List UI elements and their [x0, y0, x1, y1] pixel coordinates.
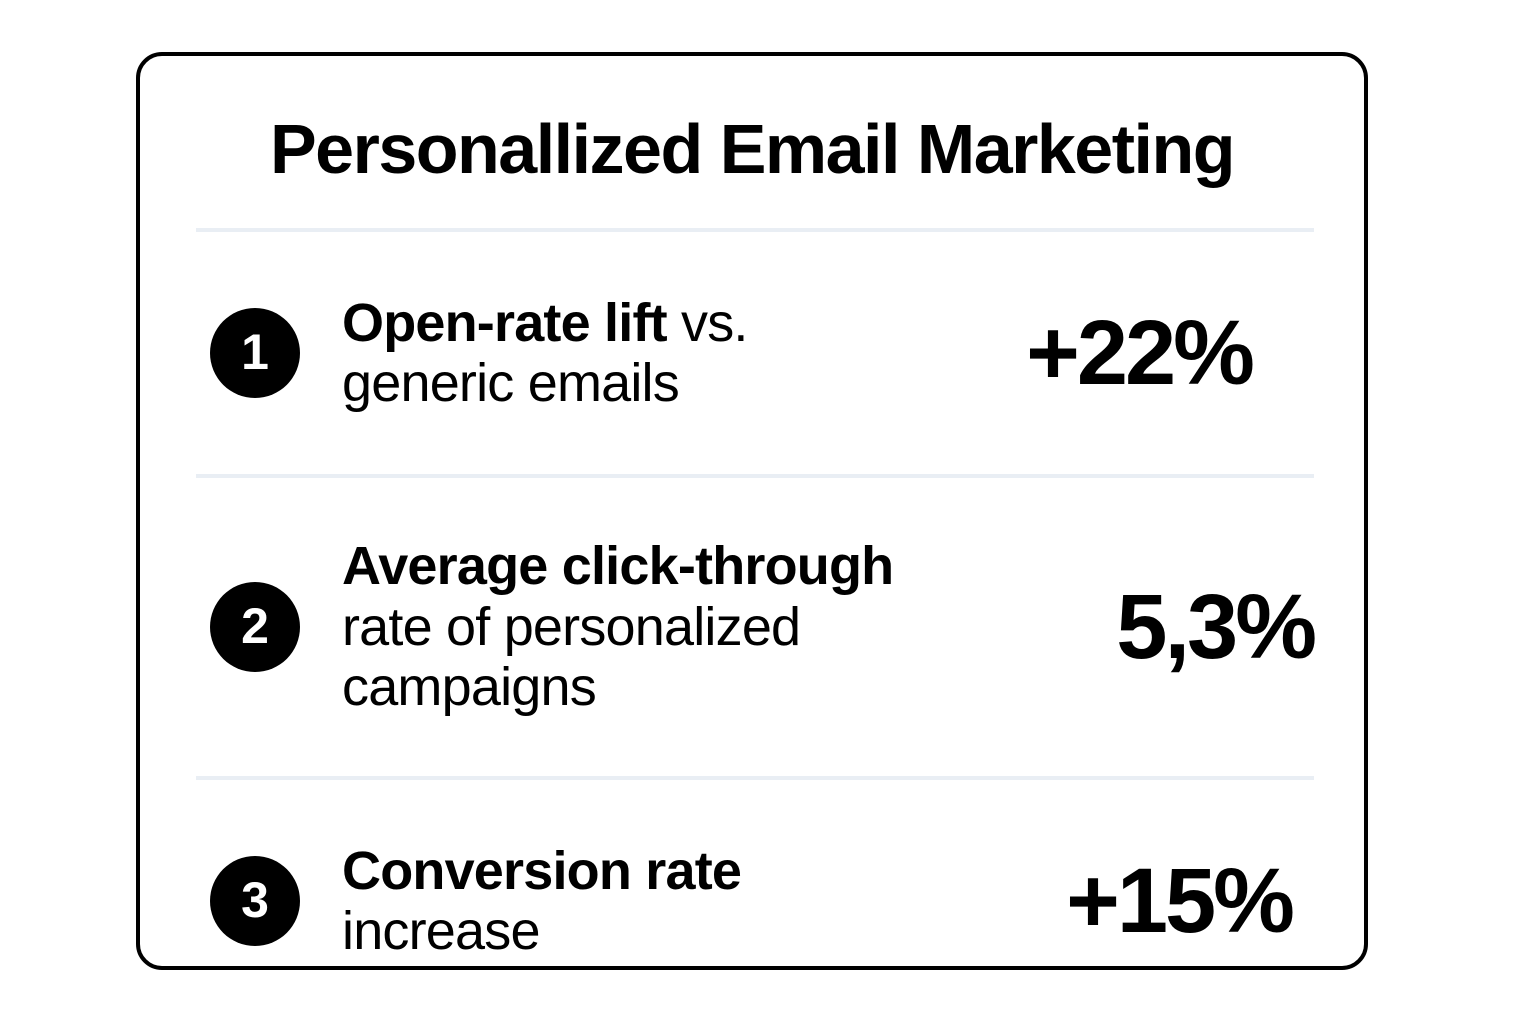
stat-value-1: +22% — [922, 307, 1252, 399]
badge-container-2: 2 — [196, 582, 342, 672]
page-title: Personallized Email Marketing — [140, 56, 1364, 184]
badge-container-3: 3 — [196, 856, 342, 946]
stats-card: Personallized Email Marketing 1 Open-rat… — [136, 52, 1368, 970]
stat-value-2: 5,3% — [984, 581, 1314, 673]
page-root: Personallized Email Marketing 1 Open-rat… — [0, 0, 1536, 1024]
number-badge-1: 1 — [210, 308, 300, 398]
stat-value-3: +15% — [962, 855, 1292, 947]
stat-label-3-normal: increase — [342, 901, 540, 961]
stat-label-3-strong: Conversion rate — [342, 841, 741, 901]
stat-label-3: Conversion rate increase — [342, 841, 962, 962]
stat-label-2-normal: rate of personalized campaigns — [342, 597, 800, 717]
number-badge-2: 2 — [210, 582, 300, 672]
list-item: 1 Open-rate lift vs. generic emails +22% — [196, 232, 1314, 474]
list-item: 2 Average click-through rate of personal… — [196, 478, 1314, 776]
list-item: 3 Conversion rate increase +15% — [196, 780, 1314, 1022]
badge-container-1: 1 — [196, 308, 342, 398]
stat-label-1-strong: Open-rate lift — [342, 293, 681, 353]
stat-label-2: Average click-through rate of personaliz… — [342, 536, 984, 717]
stat-label-2-strong: Average click-through — [342, 536, 893, 596]
stat-label-1: Open-rate lift vs. generic emails — [342, 293, 922, 414]
stats-list: 1 Open-rate lift vs. generic emails +22%… — [140, 228, 1364, 1022]
number-badge-3: 3 — [210, 856, 300, 946]
